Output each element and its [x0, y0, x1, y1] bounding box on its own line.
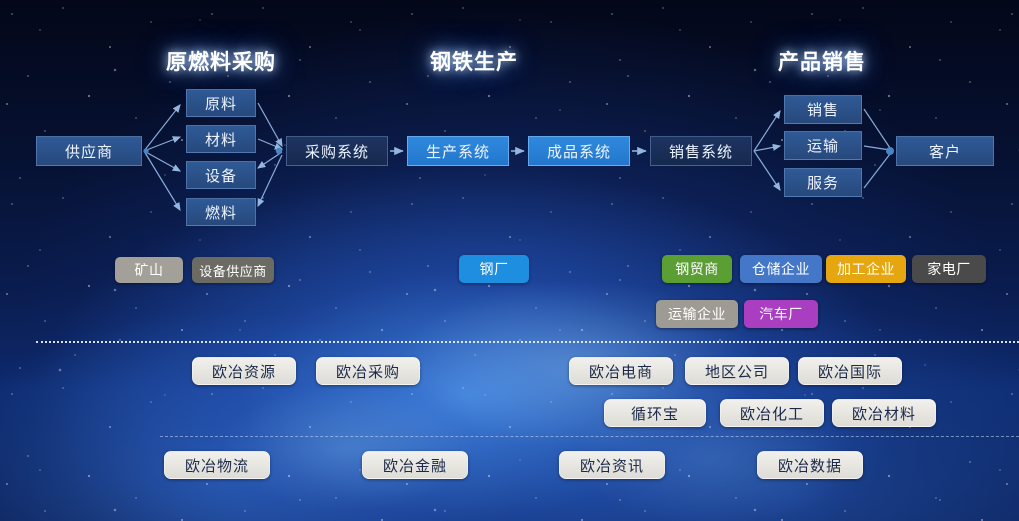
platform-unit-ouye-procurement[interactable]: 欧冶采购 — [316, 357, 420, 385]
actor-chip-warehousing-enterprise[interactable]: 仓储企业 — [740, 255, 822, 283]
actor-chip-processing-enterprise[interactable]: 加工企业 — [826, 255, 906, 283]
flow-node-raw-material[interactable]: 原料 — [186, 89, 256, 117]
platform-unit-ouye-international[interactable]: 欧冶国际 — [798, 357, 902, 385]
actor-chip-equipment-supplier[interactable]: 设备供应商 — [192, 257, 274, 283]
flow-node-material[interactable]: 材料 — [186, 125, 256, 153]
section-title-raw-material: 原燃料采购 — [166, 46, 276, 76]
actor-chip-steel-trader[interactable]: 钢贸商 — [662, 255, 732, 283]
platform-unit-ouye-resources[interactable]: 欧冶资源 — [192, 357, 296, 385]
service-unit-ouye-data[interactable]: 欧冶数据 — [757, 451, 863, 479]
section-title-steel-production: 钢铁生产 — [430, 46, 518, 76]
flow-node-sales-system[interactable]: 销售系统 — [650, 136, 752, 166]
flow-node-customer[interactable]: 客户 — [896, 136, 994, 166]
flow-node-equipment[interactable]: 设备 — [186, 161, 256, 189]
platform-unit-regional-company[interactable]: 地区公司 — [685, 357, 789, 385]
actor-chip-mine[interactable]: 矿山 — [115, 257, 183, 283]
platform-unit-recycling-treasure[interactable]: 循环宝 — [604, 399, 706, 427]
actor-chip-appliance-factory[interactable]: 家电厂 — [912, 255, 986, 283]
service-unit-ouye-finance[interactable]: 欧冶金融 — [362, 451, 468, 479]
supply-chain-diagram: 原燃料采购 钢铁生产 产品销售 供应商 原料 材料 设备 燃料 采购系统 生产系… — [0, 0, 1019, 521]
actor-chip-transport-enterprise[interactable]: 运输企业 — [656, 300, 738, 328]
divider-secondary — [160, 436, 1019, 437]
service-unit-ouye-information[interactable]: 欧冶资讯 — [559, 451, 665, 479]
flow-node-procurement-system[interactable]: 采购系统 — [286, 136, 388, 166]
flow-node-transport[interactable]: 运输 — [784, 131, 862, 160]
flow-node-finished-goods-system[interactable]: 成品系统 — [528, 136, 630, 166]
divider-primary — [36, 341, 1019, 343]
platform-unit-ouye-ecommerce[interactable]: 欧冶电商 — [569, 357, 673, 385]
flow-node-service[interactable]: 服务 — [784, 168, 862, 197]
actor-chip-steel-mill[interactable]: 钢厂 — [459, 255, 529, 283]
flow-node-supplier[interactable]: 供应商 — [36, 136, 142, 166]
actor-chip-automobile-factory[interactable]: 汽车厂 — [744, 300, 818, 328]
service-unit-ouye-logistics[interactable]: 欧冶物流 — [164, 451, 270, 479]
platform-unit-ouye-chemical[interactable]: 欧冶化工 — [720, 399, 824, 427]
platform-unit-ouye-materials[interactable]: 欧冶材料 — [832, 399, 936, 427]
flow-node-production-system[interactable]: 生产系统 — [407, 136, 509, 166]
flow-node-sales[interactable]: 销售 — [784, 95, 862, 124]
section-title-product-sales: 产品销售 — [778, 46, 866, 76]
flow-node-fuel[interactable]: 燃料 — [186, 198, 256, 226]
